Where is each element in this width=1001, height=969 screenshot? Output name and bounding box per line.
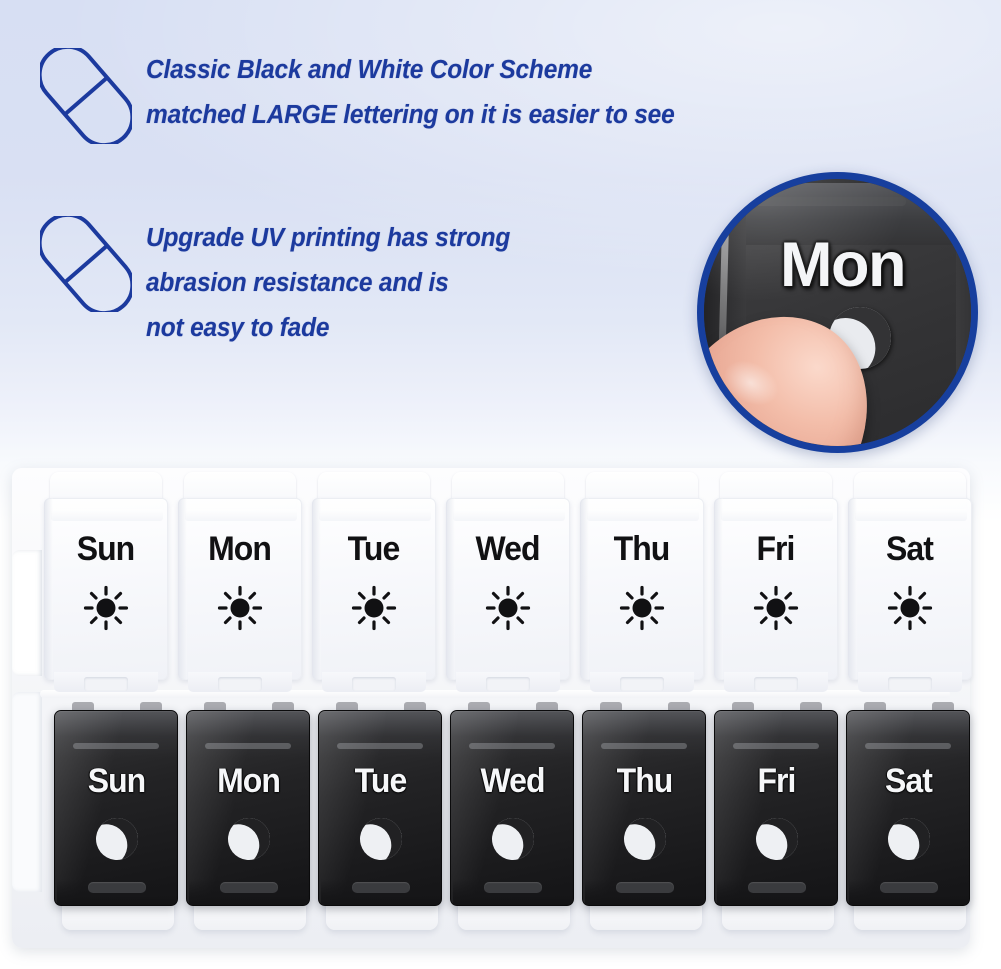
pm-cell-mon[interactable]: Mon	[184, 702, 313, 917]
sun-icon	[753, 585, 799, 631]
am-clip	[352, 677, 396, 691]
inset-day-label: Mon	[780, 229, 905, 301]
am-clip	[888, 677, 932, 691]
product-feature-image: Classic Black and White Color Scheme mat…	[0, 0, 1001, 969]
am-day-label: Wed	[446, 530, 569, 569]
am-clip	[620, 677, 664, 691]
pm-grip[interactable]	[484, 882, 542, 893]
am-clip	[754, 677, 798, 691]
pm-grip[interactable]	[616, 882, 674, 893]
am-clip	[486, 677, 530, 691]
pm-row: Sun Mon	[52, 702, 976, 917]
sun-icon	[351, 585, 397, 631]
am-clip	[84, 677, 128, 691]
pm-lid-sheen	[318, 710, 386, 906]
pm-day-label: Sun	[56, 762, 177, 801]
am-day-label: Mon	[178, 530, 301, 569]
pm-cell-sun[interactable]: Sun	[52, 702, 181, 917]
am-lid-edge	[178, 498, 187, 680]
pm-lid-sheen	[582, 710, 650, 906]
pm-grip[interactable]	[880, 882, 938, 893]
feature-2-line-3: not easy to fade	[146, 306, 510, 351]
inset-photo: Mon	[697, 172, 978, 453]
pm-grip[interactable]	[748, 882, 806, 893]
pm-cell-wed[interactable]: Wed	[448, 702, 577, 917]
pm-lid[interactable]	[714, 710, 838, 906]
pm-cell-tue[interactable]: Tue	[316, 702, 445, 917]
pm-day-label: Thu	[584, 762, 705, 801]
pm-lid-sheen	[714, 710, 782, 906]
am-row: Sun	[40, 472, 978, 694]
tray-left-notch-upper	[12, 550, 42, 676]
am-lid-edge	[714, 498, 723, 680]
sun-icon	[217, 585, 263, 631]
pm-day-label: Wed	[452, 762, 573, 801]
am-cell-fri[interactable]: Fri	[710, 472, 841, 694]
am-lid-edge	[446, 498, 455, 680]
am-cell-mon[interactable]: Mon	[174, 472, 305, 694]
pm-lid[interactable]	[186, 710, 310, 906]
pm-lid[interactable]	[582, 710, 706, 906]
pm-lid[interactable]	[318, 710, 442, 906]
am-cell-wed[interactable]: Wed	[442, 472, 573, 694]
capsule-icon	[40, 48, 132, 144]
pm-lid[interactable]	[846, 710, 970, 906]
feature-bullet-1: Classic Black and White Color Scheme mat…	[40, 48, 697, 144]
pm-day-label: Tue	[320, 762, 441, 801]
pm-lid[interactable]	[450, 710, 574, 906]
pill-organizer: Sun	[12, 460, 990, 960]
sun-icon	[619, 585, 665, 631]
pm-grip[interactable]	[88, 882, 146, 893]
sun-icon	[485, 585, 531, 631]
pm-cell-thu[interactable]: Thu	[580, 702, 709, 917]
feature-2-line-1: Upgrade UV printing has strong	[146, 216, 510, 261]
am-day-label: Sun	[44, 530, 167, 569]
feature-1-line-2: matched LARGE lettering on it is easier …	[146, 93, 675, 138]
am-cell-tue[interactable]: Tue	[308, 472, 439, 694]
pm-day-label: Mon	[188, 762, 309, 801]
am-day-label: Sat	[848, 530, 971, 569]
pm-lid[interactable]	[54, 710, 178, 906]
feature-bullet-1-text: Classic Black and White Color Scheme mat…	[146, 48, 697, 138]
am-day-label: Fri	[714, 530, 837, 569]
pm-lid-sheen	[450, 710, 518, 906]
am-day-label: Tue	[312, 530, 435, 569]
feature-bullet-2-text: Upgrade UV printing has strong abrasion …	[146, 216, 525, 351]
am-lid-edge	[312, 498, 321, 680]
pm-cell-fri[interactable]: Fri	[712, 702, 841, 917]
pm-cell-sat[interactable]: Sat	[844, 702, 973, 917]
am-day-label: Thu	[580, 530, 703, 569]
am-clip	[218, 677, 262, 691]
am-lid-edge	[848, 498, 857, 680]
pm-day-label: Sat	[848, 762, 969, 801]
pm-day-label: Fri	[716, 762, 837, 801]
pm-lid-sheen	[54, 710, 122, 906]
inset-lid-groove	[756, 197, 906, 206]
capsule-icon	[40, 216, 132, 312]
feature-1-line-1: Classic Black and White Color Scheme	[146, 48, 675, 93]
am-cell-thu[interactable]: Thu	[576, 472, 707, 694]
sun-icon	[887, 585, 933, 631]
pm-lid-sheen	[846, 710, 914, 906]
tray-left-notch-lower	[12, 692, 42, 892]
am-cell-sun[interactable]: Sun	[40, 472, 171, 694]
feature-bullet-2: Upgrade UV printing has strong abrasion …	[40, 216, 525, 351]
uv-printing-closeup-inset: Mon	[697, 172, 978, 453]
sun-icon	[83, 585, 129, 631]
pm-grip[interactable]	[352, 882, 410, 893]
pm-lid-sheen	[186, 710, 254, 906]
feature-2-line-2: abrasion resistance and is	[146, 261, 510, 306]
pm-grip[interactable]	[220, 882, 278, 893]
am-lid-edge	[580, 498, 589, 680]
am-cell-sat[interactable]: Sat	[844, 472, 975, 694]
am-lid-edge	[44, 498, 53, 680]
